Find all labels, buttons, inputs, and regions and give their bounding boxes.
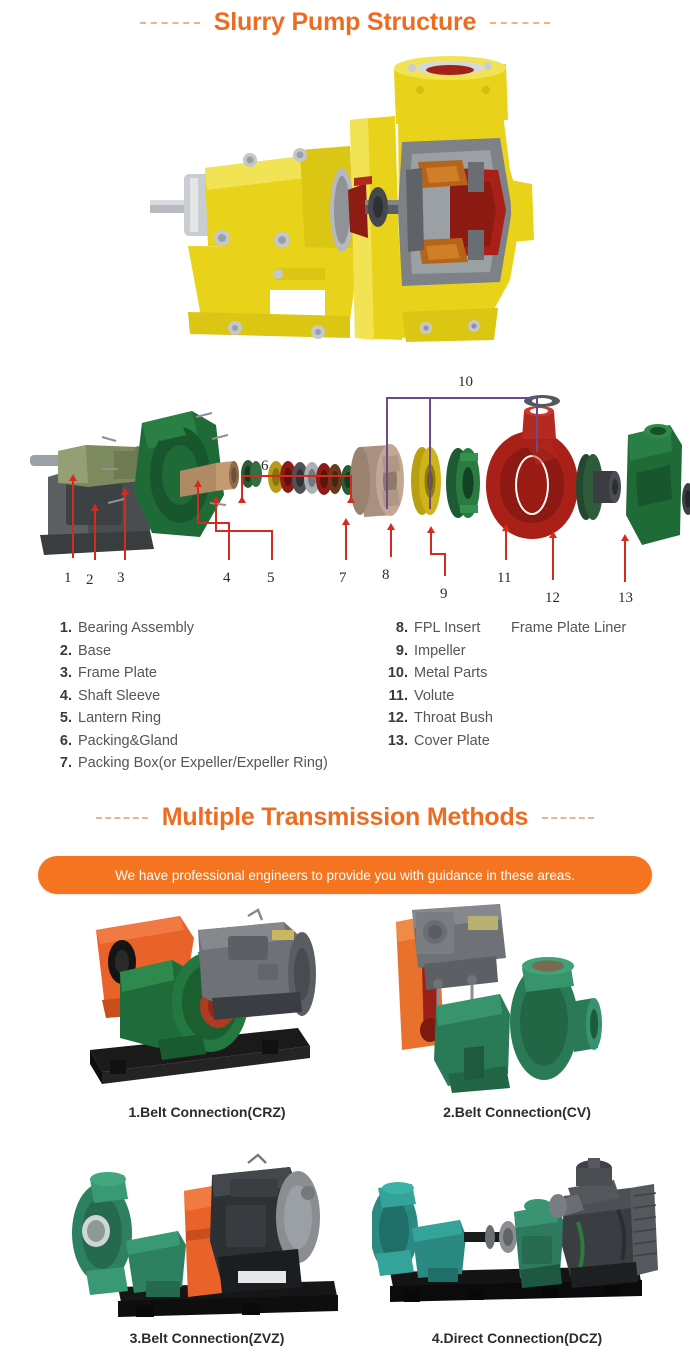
heading2-dash-left (96, 817, 148, 819)
transmission-title: Multiple Transmission Methods (162, 803, 528, 832)
part-number: 9. (382, 643, 408, 659)
callout-10-bracket-top (386, 397, 538, 399)
transmission-caption-zvz: 3.Belt Connection(ZVZ) (62, 1330, 352, 1346)
callout-13-arrow (621, 534, 629, 541)
part-number: 3. (46, 665, 72, 681)
part-label: Packing&Gland (78, 733, 178, 749)
callout-7-line (345, 522, 347, 560)
callout-11-line (505, 528, 507, 560)
callout-2-arrow (91, 504, 99, 511)
transmission-caption-crz: 1.Belt Connection(CRZ) (62, 1104, 352, 1120)
parts-legend: 1. Bearing Assembly 2. Base 3. Frame Pla… (0, 620, 690, 780)
cutaway-pump-image (150, 50, 550, 350)
part-number: 11. (382, 688, 408, 704)
callout-6-arrow-right (347, 496, 355, 503)
callout-5-line-h (215, 530, 273, 532)
guidance-banner: We have professional engineers to provid… (38, 856, 652, 894)
callout-11-arrow (502, 524, 510, 531)
part-item-3: 3. Frame Plate (46, 665, 328, 688)
callout-label-5: 5 (267, 570, 275, 587)
callout-4-line-h (197, 522, 230, 524)
heading2-dash-right (542, 817, 594, 819)
callout-4-arrow (194, 480, 202, 487)
guidance-banner-text: We have professional engineers to provid… (115, 868, 575, 883)
part-label: Packing Box(or Expeller/Expeller Ring) (78, 755, 328, 771)
callout-2-line (94, 508, 96, 560)
part-label: Volute (414, 688, 454, 704)
transmission-image-dcz (372, 1150, 662, 1325)
heading-dash-left (140, 22, 200, 24)
part-item-7: 7. Packing Box(or Expeller/Expeller Ring… (46, 755, 328, 778)
part-number: 5. (46, 710, 72, 726)
part-label: Cover Plate (414, 733, 490, 749)
callout-label-1: 1 (64, 570, 72, 587)
part-label: Bearing Assembly (78, 620, 194, 636)
part-number: 13. (382, 733, 408, 749)
callout-label-6: 6 (261, 458, 269, 475)
callout-label-10: 10 (458, 374, 473, 391)
transmission-heading: Multiple Transmission Methods (0, 803, 690, 832)
part-item-8: 8. FPL Insert (382, 620, 493, 643)
part-item-5: 5. Lantern Ring (46, 710, 328, 733)
part-item-13: 13. Cover Plate (382, 733, 493, 756)
callout-label-4: 4 (223, 570, 231, 587)
heading-dash-right (490, 22, 550, 24)
callout-label-8: 8 (382, 567, 390, 584)
part-label: Throat Bush (414, 710, 493, 726)
callout-5-arrow (212, 496, 220, 503)
transmission-caption-dcz: 4.Direct Connection(DCZ) (372, 1330, 662, 1346)
transmission-caption-cv: 2.Belt Connection(CV) (372, 1104, 662, 1120)
callout-9-arrow (427, 526, 435, 533)
exploded-view-image (30, 395, 690, 585)
transmission-image-cv (372, 898, 662, 1093)
fpl-insert-note: Frame Plate Liner (511, 620, 626, 636)
part-number: 8. (382, 620, 408, 636)
callout-7-arrow (342, 518, 350, 525)
part-number: 7. (46, 755, 72, 771)
part-label: Shaft Sleeve (78, 688, 160, 704)
parts-column-left: 1. Bearing Assembly 2. Base 3. Frame Pla… (46, 620, 328, 778)
callout-9-line-down (444, 553, 446, 576)
page-title: Slurry Pump Structure (214, 8, 477, 37)
transmission-image-crz (62, 900, 352, 1090)
callout-10-drop-right (536, 397, 538, 452)
part-item-10: 10. Metal Parts (382, 665, 493, 688)
parts-column-right: 8. FPL Insert 9. Impeller 10. Metal Part… (382, 620, 493, 755)
part-label: Frame Plate (78, 665, 157, 681)
callout-10-drop-left (386, 397, 388, 509)
callout-label-9: 9 (440, 586, 448, 603)
callout-4-line-down (228, 522, 230, 560)
part-number: 10. (382, 665, 408, 681)
callout-label-3: 3 (117, 570, 125, 587)
callout-12-line (552, 535, 554, 580)
callout-5-line-down (271, 530, 273, 560)
callout-label-12: 12 (545, 590, 560, 607)
callout-1-arrow (69, 474, 77, 481)
part-label: Lantern Ring (78, 710, 161, 726)
callout-label-7: 7 (339, 570, 347, 587)
transmission-image-zvz (62, 1145, 352, 1325)
part-number: 4. (46, 688, 72, 704)
callout-6-bracket-top (241, 475, 352, 477)
callout-8-arrow (387, 523, 395, 530)
part-label: FPL Insert (414, 620, 480, 636)
part-number: 12. (382, 710, 408, 726)
part-item-2: 2. Base (46, 643, 328, 666)
callout-4-line-up (197, 484, 199, 524)
callout-13-line (624, 538, 626, 582)
callout-8-line (390, 527, 392, 557)
structure-heading: Slurry Pump Structure (0, 8, 690, 37)
part-number: 6. (46, 733, 72, 749)
callout-3-line (124, 492, 126, 560)
part-item-6: 6. Packing&Gland (46, 733, 328, 756)
part-number: 2. (46, 643, 72, 659)
callout-12-arrow (549, 531, 557, 538)
part-item-4: 4. Shaft Sleeve (46, 688, 328, 711)
callout-label-13: 13 (618, 590, 633, 607)
callout-3-arrow (121, 488, 129, 495)
callout-1-line (72, 478, 74, 558)
part-label: Base (78, 643, 111, 659)
callout-10-drop-mid (429, 397, 431, 509)
callout-label-2: 2 (86, 572, 94, 589)
callout-5-line-up (215, 500, 217, 532)
callout-6-arrow-left (238, 496, 246, 503)
part-label: Metal Parts (414, 665, 487, 681)
part-item-11: 11. Volute (382, 688, 493, 711)
part-item-12: 12. Throat Bush (382, 710, 493, 733)
part-item-9: 9. Impeller (382, 643, 493, 666)
part-number: 1. (46, 620, 72, 636)
part-label: Impeller (414, 643, 466, 659)
callout-9-line-up (430, 530, 432, 555)
callout-label-11: 11 (497, 570, 511, 587)
part-item-1: 1. Bearing Assembly (46, 620, 328, 643)
